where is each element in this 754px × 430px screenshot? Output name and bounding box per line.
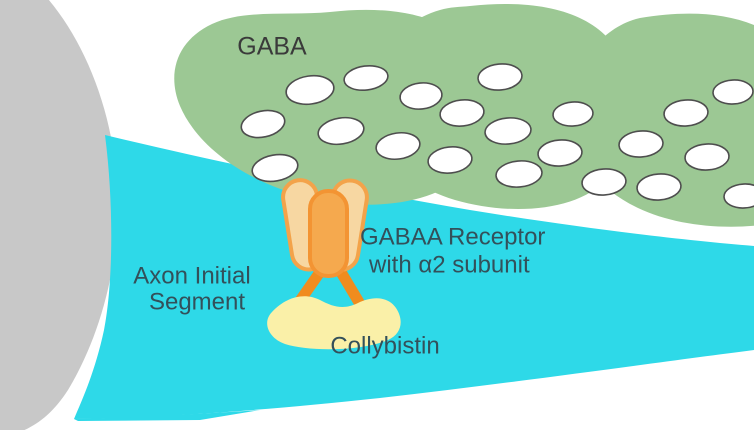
diagram-canvas: GABA GABAA Receptor with α2 subunit Axon… [0,0,754,430]
receptor-subunit-alpha2 [310,191,347,276]
label-receptor-line2: with α2 subunit [368,251,530,278]
label-receptor-line1: GABAA Receptor [360,223,545,250]
synapse-illustration: GABA GABAA Receptor with α2 subunit Axon… [0,0,754,430]
label-gaba: GABA [237,33,307,61]
label-axon-line2: Segment [149,288,245,315]
label-axon-line1: Axon Initial [133,262,250,289]
label-collybistin: Collybistin [330,332,439,359]
